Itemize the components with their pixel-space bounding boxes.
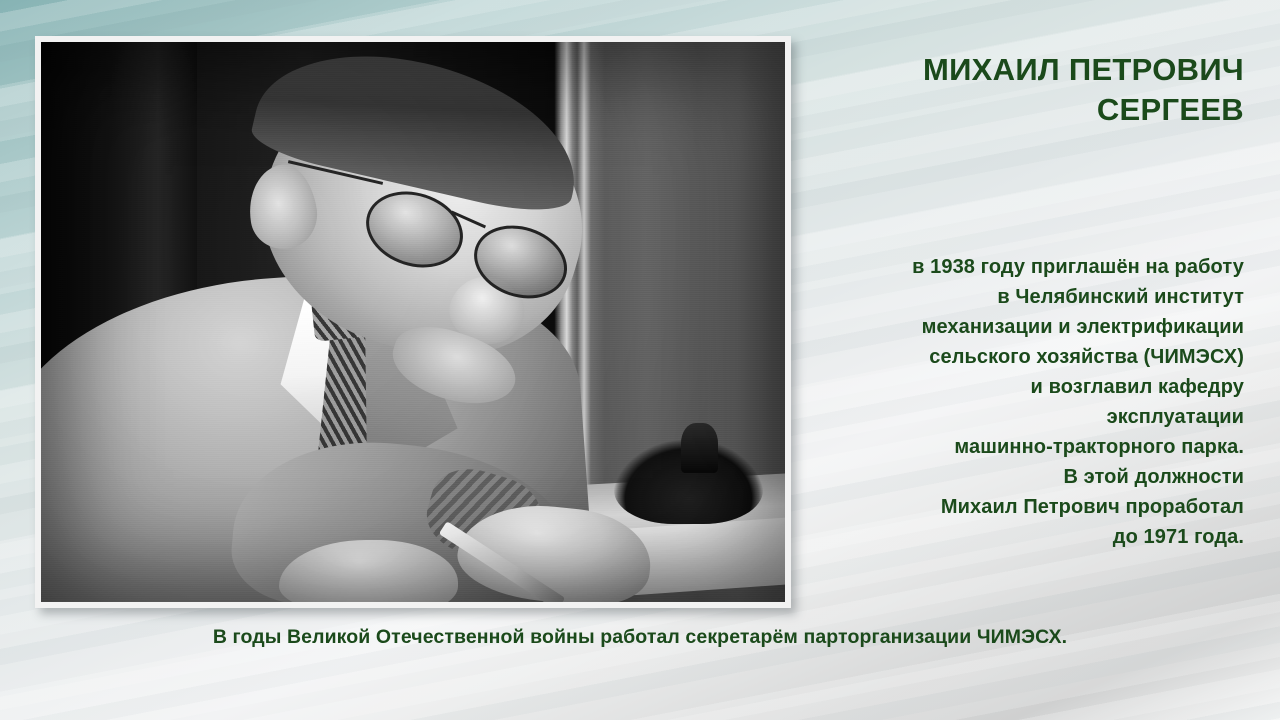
slide-title: МИХАИЛ ПЕТРОВИЧ СЕРГЕЕВ	[814, 50, 1244, 131]
body-line-2: в Челябинский институт	[814, 282, 1244, 312]
body-line-6: эксплуатации	[814, 402, 1244, 432]
body-line-4: сельского хозяйства (ЧИМЭСХ)	[814, 342, 1244, 372]
title-line-1: МИХАИЛ ПЕТРОВИЧ	[814, 50, 1244, 90]
photo-vignette	[41, 42, 785, 602]
body-line-5: и возглавил кафедру	[814, 372, 1244, 402]
body-line-1: в 1938 году приглашён на работу	[814, 252, 1244, 282]
body-line-10: до 1971 года.	[814, 522, 1244, 552]
slide-caption: В годы Великой Отечественной войны работ…	[0, 626, 1280, 649]
slide-body-text: в 1938 году приглашён на работу в Челяби…	[814, 252, 1244, 552]
body-line-7: машинно-тракторного парка.	[814, 432, 1244, 462]
presentation-slide: МИХАИЛ ПЕТРОВИЧ СЕРГЕЕВ в 1938 году приг…	[0, 0, 1280, 720]
body-line-3: механизации и электрификации	[814, 312, 1244, 342]
title-line-2: СЕРГЕЕВ	[814, 90, 1244, 130]
body-line-9: Михаил Петрович проработал	[814, 492, 1244, 522]
body-line-8: В этой должности	[814, 462, 1244, 492]
portrait-photo-frame	[35, 36, 791, 608]
portrait-photo	[41, 42, 785, 602]
